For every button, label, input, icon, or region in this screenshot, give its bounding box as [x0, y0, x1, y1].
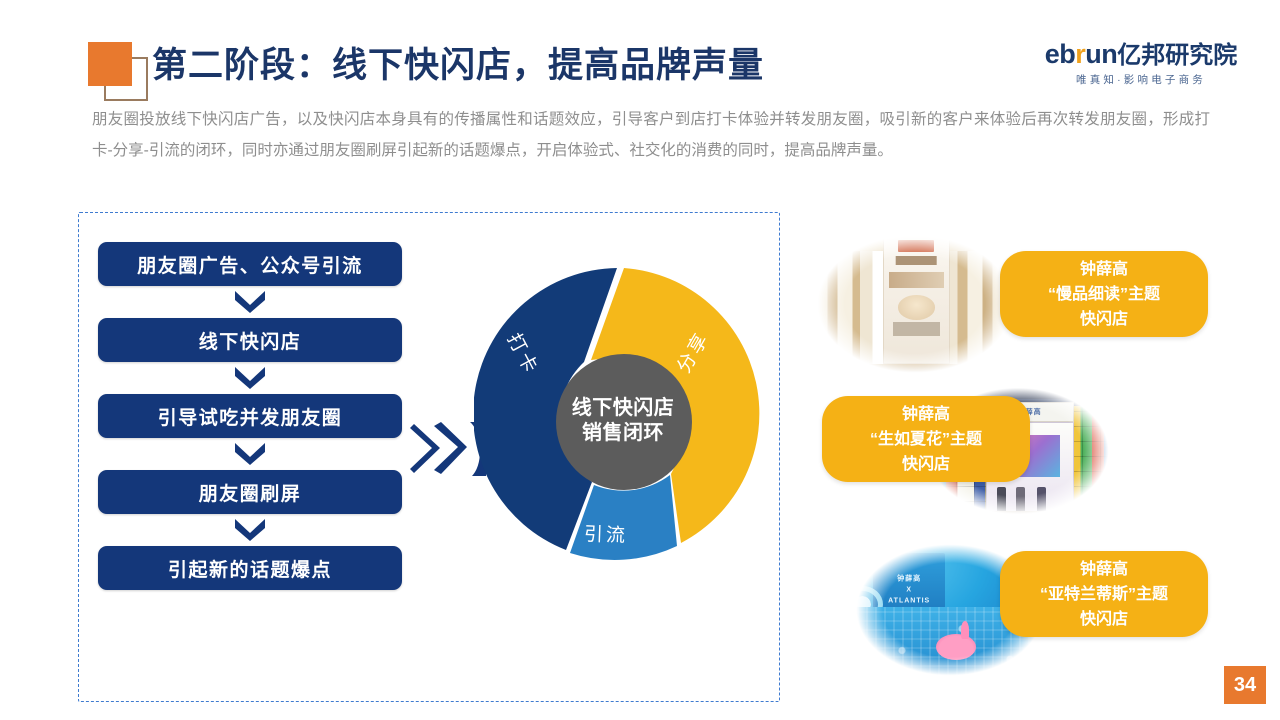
flow-arrow-1 — [98, 286, 402, 318]
flow-chart: 朋友圈广告、公众号引流 线下快闪店 引导试吃并发朋友圈 朋友圈刷屏 引起新的话题… — [98, 242, 402, 590]
callout-shengrixiahua[interactable]: 钟薛高 “生如夏花”主题 快闪店 — [822, 396, 1030, 482]
callout-2-line1: 钟薛高 — [870, 402, 982, 427]
callout-atlantis[interactable]: 钟薛高 “亚特兰蒂斯”主题 快闪店 — [1000, 551, 1208, 637]
atlantis-brand-line2: X — [888, 584, 930, 595]
flow-step-4[interactable]: 朋友圈刷屏 — [98, 470, 402, 514]
donut-center-circle — [556, 354, 692, 490]
flow-step-2[interactable]: 线下快闪店 — [98, 318, 402, 362]
flow-step-5[interactable]: 引起新的话题爆点 — [98, 546, 402, 590]
logo-letter-b: b — [1059, 39, 1075, 69]
flow-arrow-4 — [98, 514, 402, 546]
logo-letter-r: r — [1075, 39, 1085, 69]
callout-2-line2: “生如夏花”主题 — [870, 427, 982, 452]
logo-letter-e: e — [1045, 39, 1060, 69]
callout-3-line3: 快闪店 — [1040, 607, 1168, 632]
callout-1-line1: 钟薛高 — [1048, 257, 1160, 282]
callout-manpinxidu[interactable]: 钟薛高 “慢品细读”主题 快闪店 — [1000, 251, 1208, 337]
chevron-down-icon — [235, 367, 265, 389]
closed-loop-donut-chart: 线下快闪店 销售闭环 打卡 分享 引流 — [474, 262, 760, 570]
callout-3-line2: “亚特兰蒂斯”主题 — [1040, 582, 1168, 607]
intro-paragraph: 朋友圈投放线下快闪店广告，以及快闪店本身具有的传播属性和话题效应，引导客户到店打… — [92, 104, 1210, 166]
callout-1-line2: “慢品细读”主题 — [1048, 282, 1160, 307]
ebrun-logo: ebrun亿邦研究院 唯真知·影响电子商务 — [1034, 40, 1248, 87]
page-number-badge: 34 — [1224, 666, 1266, 704]
popup-banner — [883, 227, 951, 364]
donut-label-yinliu: 引流 — [584, 519, 629, 548]
logo-wordmark: ebrun亿邦研究院 — [1034, 40, 1248, 68]
flow-step-1[interactable]: 朋友圈广告、公众号引流 — [98, 242, 402, 286]
flow-arrow-2 — [98, 362, 402, 394]
slide-root: 第二阶段：线下快闪店，提高品牌声量 ebrun亿邦研究院 唯真知·影响电子商务 … — [0, 0, 1280, 720]
title-accent-square — [88, 42, 132, 86]
logo-tagline: 唯真知·影响电子商务 — [1034, 72, 1248, 87]
flow-step-3[interactable]: 引导试吃并发朋友圈 — [98, 394, 402, 438]
logo-letters-un: un — [1085, 39, 1117, 69]
chevron-down-icon — [235, 519, 265, 541]
chevron-down-icon — [235, 443, 265, 465]
logo-chinese-name: 亿邦研究院 — [1117, 42, 1237, 69]
callout-1-line3: 快闪店 — [1048, 307, 1160, 332]
callout-3-line1: 钟薛高 — [1040, 557, 1168, 582]
callout-2-line3: 快闪店 — [870, 452, 982, 477]
chevron-down-icon — [235, 291, 265, 313]
flow-arrow-3 — [98, 438, 402, 470]
atlantis-brand-line1: 钟薛高 — [888, 573, 930, 584]
page-title: 第二阶段：线下快闪店，提高品牌声量 — [152, 37, 764, 88]
atlantis-brand-line3: ATLANTIS — [888, 595, 930, 606]
